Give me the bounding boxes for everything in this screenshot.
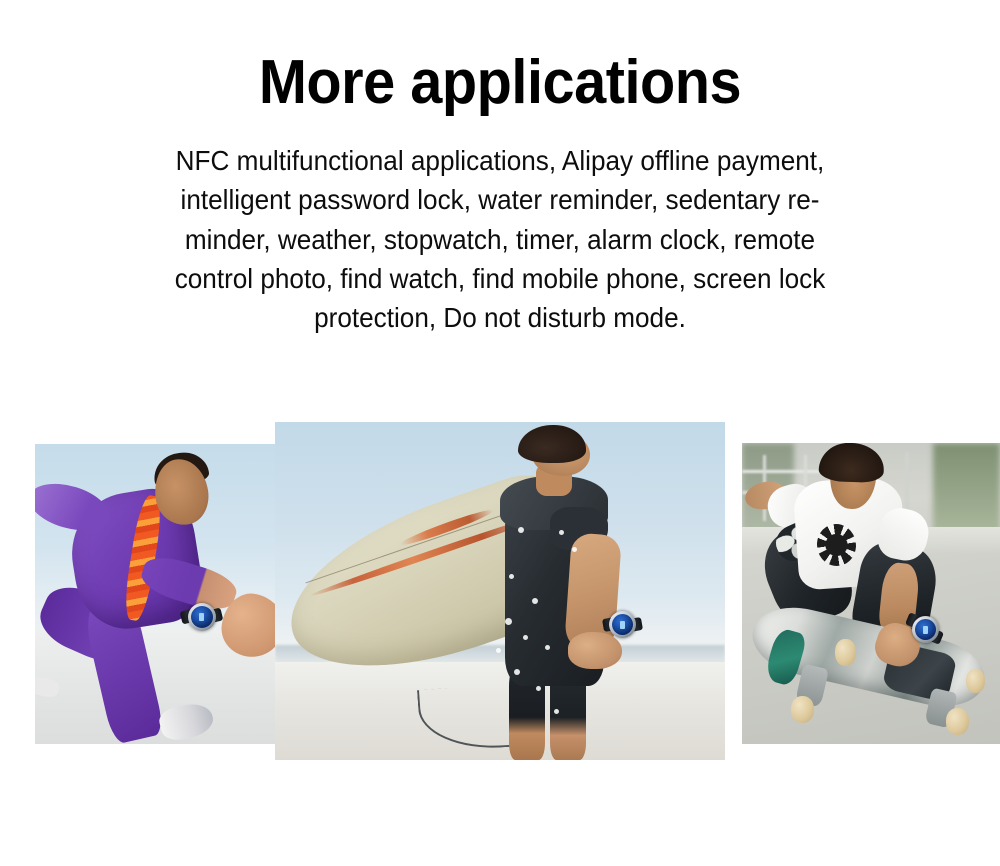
gallery-photo-skateboarder-grab[interactable]: [742, 443, 1000, 744]
skateboard-wheel: [791, 696, 814, 723]
description-line-4: control photo, find watch, find mobile p…: [82, 259, 918, 298]
water-droplet: [514, 669, 520, 675]
page-description: NFC multifunctional applications, Alipay…: [82, 117, 918, 336]
description-line-1: NFC multifunctional applications, Alipay…: [82, 141, 918, 180]
description-line-2: intelligent password lock, water reminde…: [82, 180, 918, 219]
water-droplet: [518, 527, 524, 533]
skateboard-wheel: [966, 669, 984, 693]
water-droplet: [523, 635, 528, 640]
page-header: More applications NFC multifunctional ap…: [0, 0, 1000, 337]
gallery-photo-athlete-stretching[interactable]: [35, 444, 275, 744]
description-line-3: minder, weather, stopwatch, timer, alarm…: [82, 220, 918, 259]
skateboard-wheel: [835, 639, 856, 666]
water-droplet: [536, 686, 541, 691]
water-droplet: [532, 598, 538, 604]
water-droplet: [559, 530, 564, 535]
description-line-5: protection, Do not disturb mode.: [82, 298, 918, 337]
skateboard-wheel: [946, 708, 969, 735]
page-title: More applications: [35, 0, 965, 117]
water-droplet: [505, 618, 512, 625]
surfer-hair: [518, 425, 586, 462]
gallery-photo-surfer-with-board[interactable]: [275, 422, 725, 760]
surfer-hand-right: [568, 632, 622, 669]
background-foliage-right: [933, 443, 1000, 533]
